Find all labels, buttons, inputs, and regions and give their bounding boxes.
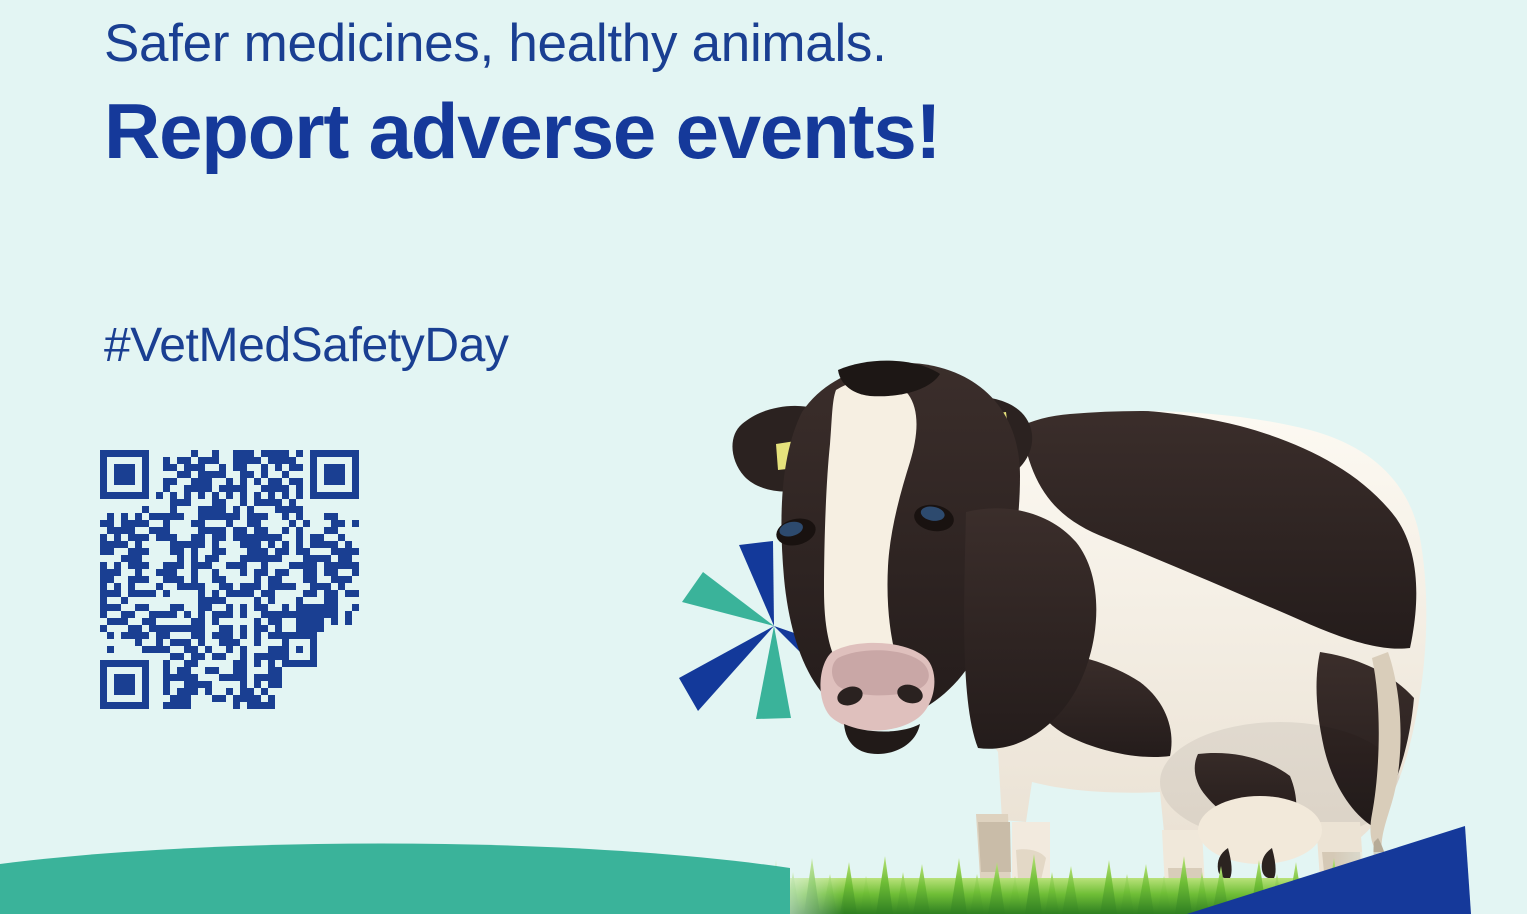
hashtag-label: #VetMedSafetyDay (104, 318, 509, 373)
tagline: Safer medicines, healthy animals. (104, 14, 1304, 73)
page-title: Report adverse events! (104, 89, 1304, 175)
qr-code[interactable] (100, 450, 359, 709)
blue-wedge-decoration (1187, 804, 1527, 914)
headline-block: Safer medicines, healthy animals. Report… (104, 14, 1304, 175)
teal-arc-decoration (0, 834, 790, 914)
poster-canvas: Safer medicines, healthy animals. Report… (0, 0, 1527, 914)
